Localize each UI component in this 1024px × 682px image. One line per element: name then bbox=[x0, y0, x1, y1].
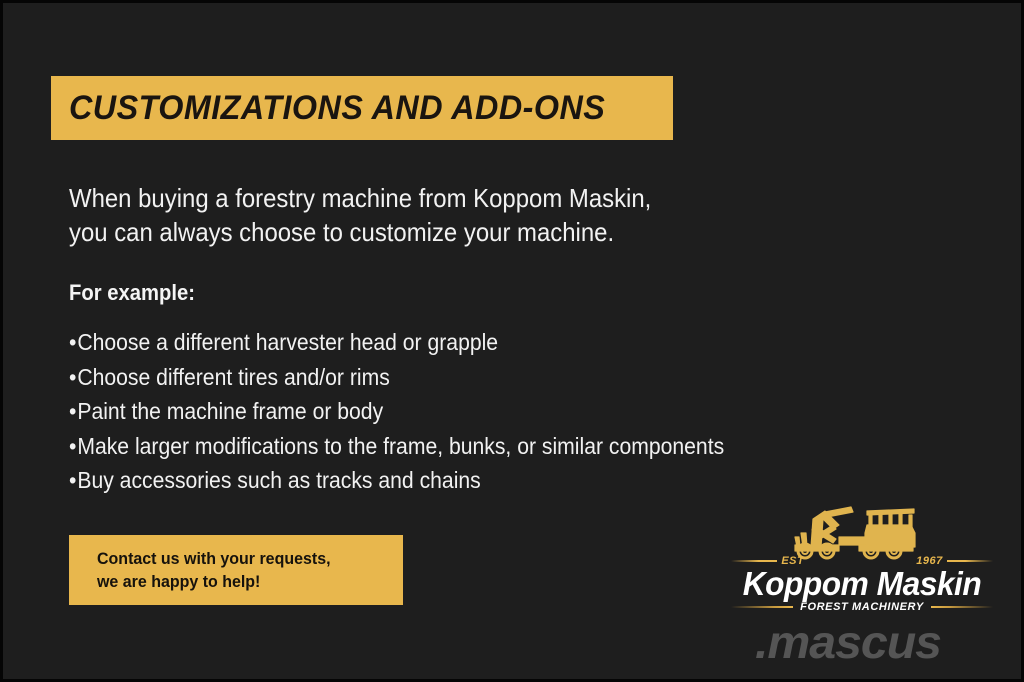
logo-wordmark: Koppom Maskin bbox=[736, 565, 988, 603]
logo-tagline: FOREST MACHINERY bbox=[793, 601, 931, 613]
koppom-maskin-logo: EST 1967 Koppom Maskin FOREST MACHINERY bbox=[731, 503, 993, 613]
list-item: •Choose different tires and/or rims bbox=[69, 360, 860, 395]
intro-paragraph: When buying a forestry machine from Kopp… bbox=[69, 181, 829, 249]
logo-rule-left bbox=[731, 560, 777, 562]
customization-options-list: •Choose a different harvester head or gr… bbox=[69, 325, 929, 498]
bullet-dot-icon: • bbox=[69, 394, 76, 429]
bullet-dot-icon: • bbox=[69, 463, 76, 498]
list-item-label: Choose different tires and/or rims bbox=[77, 364, 389, 390]
mascus-watermark: .mascus bbox=[755, 615, 941, 669]
contact-line-2: we are happy to help! bbox=[97, 570, 385, 593]
logo-tagline-rule-left bbox=[731, 606, 793, 608]
bullet-dot-icon: • bbox=[69, 325, 76, 360]
logo-rule-right bbox=[947, 560, 993, 562]
slide-canvas: CUSTOMIZATIONS AND ADD-ONS When buying a… bbox=[0, 0, 1024, 682]
list-item-label: Paint the machine frame or body bbox=[77, 398, 383, 424]
intro-line-2: you can always choose to customize your … bbox=[69, 215, 768, 249]
list-item: •Buy accessories such as tracks and chai… bbox=[69, 463, 860, 498]
list-item: •Paint the machine frame or body bbox=[69, 394, 860, 429]
list-item-label: Buy accessories such as tracks and chain… bbox=[77, 467, 480, 493]
list-item: •Make larger modifications to the frame,… bbox=[69, 429, 860, 464]
page-title: CUSTOMIZATIONS AND ADD-ONS bbox=[69, 89, 605, 128]
contact-line-1: Contact us with your requests, bbox=[97, 547, 385, 570]
intro-line-1: When buying a forestry machine from Kopp… bbox=[69, 181, 768, 215]
contact-callout-box[interactable]: Contact us with your requests, we are ha… bbox=[69, 535, 403, 605]
list-item-label: Choose a different harvester head or gra… bbox=[77, 329, 498, 355]
logo-tagline-row: FOREST MACHINERY bbox=[731, 600, 993, 614]
header-banner: CUSTOMIZATIONS AND ADD-ONS bbox=[51, 76, 673, 140]
bullet-dot-icon: • bbox=[69, 360, 76, 395]
for-example-label: For example: bbox=[69, 280, 195, 306]
list-item: •Choose a different harvester head or gr… bbox=[69, 325, 860, 360]
logo-tagline-rule-right bbox=[931, 606, 993, 608]
list-item-label: Make larger modifications to the frame, … bbox=[77, 433, 724, 459]
bullet-dot-icon: • bbox=[69, 429, 76, 464]
